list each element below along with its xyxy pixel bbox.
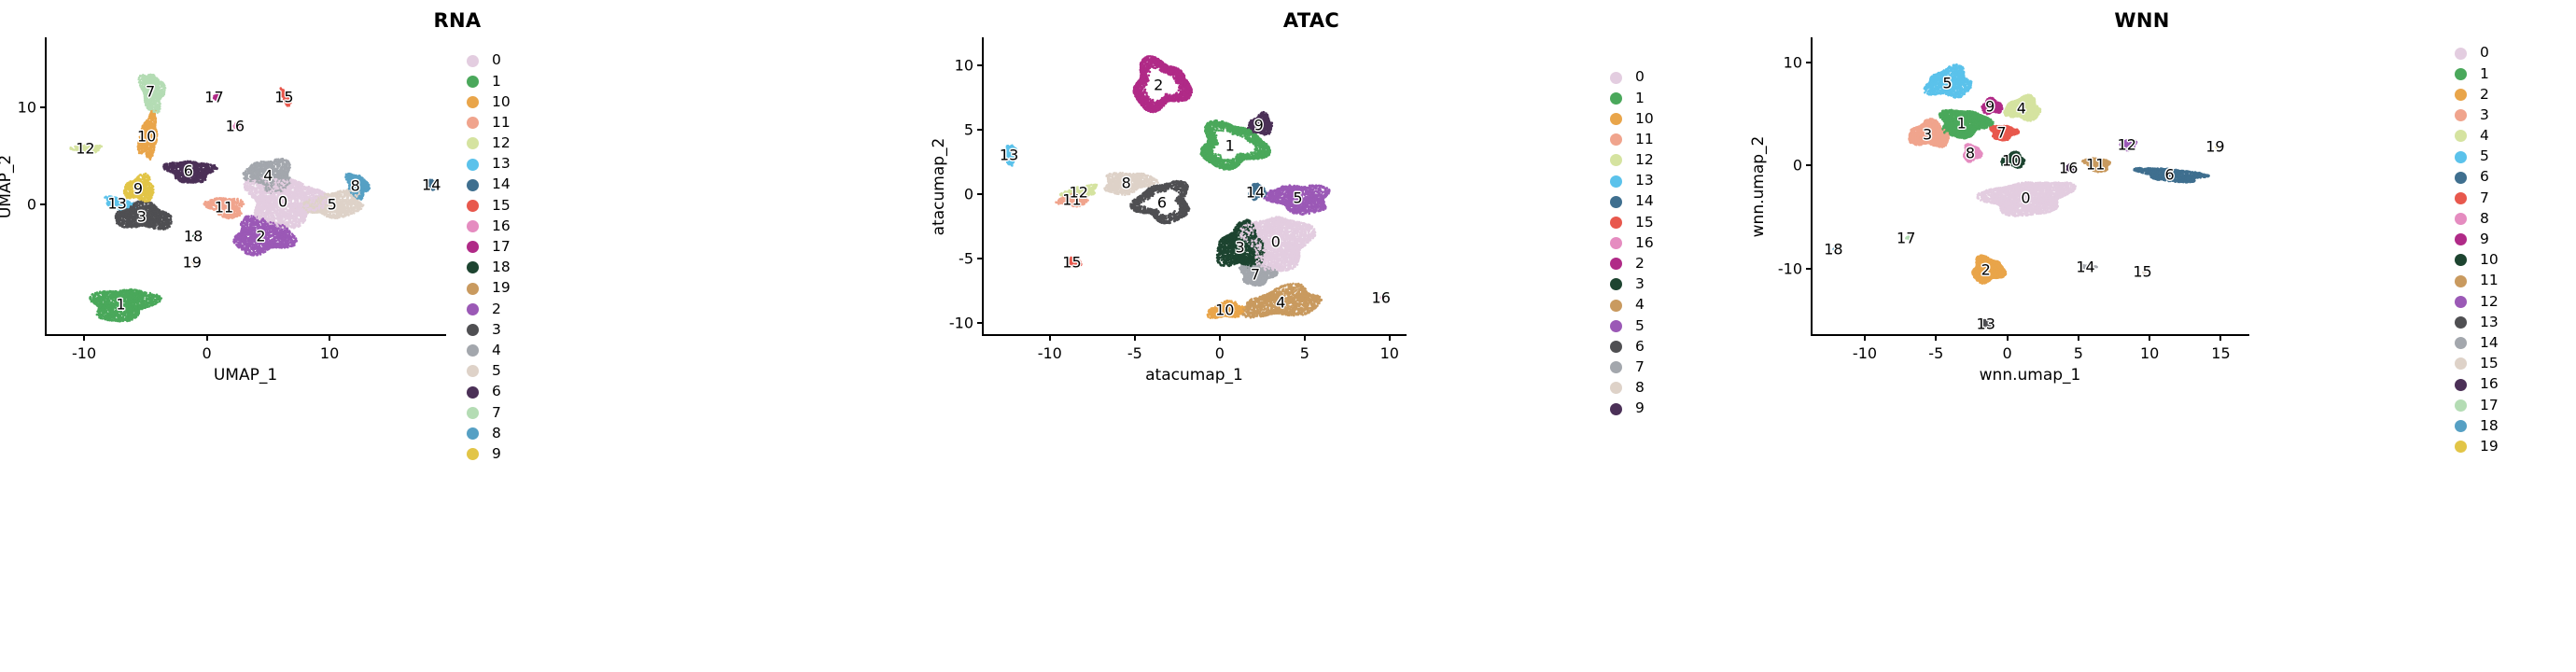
legend-swatch-icon <box>1610 403 1622 415</box>
legend-label: 19 <box>492 281 511 296</box>
legend-label: 13 <box>492 157 511 172</box>
legend-label: 9 <box>2480 232 2489 247</box>
legend-swatch-icon <box>2455 399 2467 412</box>
legend-label: 4 <box>1635 298 1645 313</box>
legend-item-8[interactable]: 8 <box>467 423 511 443</box>
legend-item-9[interactable]: 9 <box>1610 399 1654 419</box>
panel-title-rna: RNA <box>0 9 915 32</box>
legend-label: 13 <box>1635 174 1654 189</box>
legend-item-15[interactable]: 15 <box>1610 212 1654 232</box>
legend-item-1[interactable]: 1 <box>1610 88 1654 108</box>
legend-swatch-icon <box>2455 441 2467 453</box>
x-tick <box>2219 336 2221 341</box>
legend-item-9[interactable]: 9 <box>467 444 511 465</box>
x-tick <box>2007 336 2009 341</box>
legend-swatch-icon <box>1610 113 1622 125</box>
legend-item-3[interactable]: 3 <box>2455 105 2499 126</box>
legend-label: 2 <box>1635 257 1645 272</box>
legend-swatch-icon <box>1610 217 1622 229</box>
legend-item-7[interactable]: 7 <box>1610 357 1654 378</box>
legend-label: 2 <box>492 302 501 317</box>
x-tick <box>1389 336 1391 341</box>
legend-swatch-icon <box>2455 420 2467 432</box>
legend-label: 7 <box>2480 191 2489 206</box>
legend-label: 2 <box>2480 88 2489 103</box>
legend-label: 10 <box>1635 112 1654 127</box>
legend-swatch-icon <box>1610 300 1622 312</box>
legend-swatch-icon <box>2455 48 2467 60</box>
legend-label: 12 <box>1635 153 1654 168</box>
x-tick-label: -10 <box>1853 344 1877 362</box>
legend-swatch-icon <box>2455 130 2467 142</box>
legend-label: 3 <box>2480 108 2489 123</box>
legend-item-16[interactable]: 16 <box>1610 233 1654 254</box>
legend-swatch-icon <box>467 117 479 129</box>
legend-swatch-icon <box>2455 172 2467 184</box>
legend-label: 8 <box>492 427 501 441</box>
x-tick-label: 10 <box>2140 344 2159 362</box>
legend-rna: 011011121314151617181923456789 <box>467 50 511 465</box>
legend-item-5[interactable]: 5 <box>467 361 511 382</box>
legend-label: 18 <box>492 260 511 275</box>
legend-label: 7 <box>492 406 501 421</box>
legend-swatch-icon <box>467 159 479 171</box>
legend-swatch-icon <box>1610 133 1622 146</box>
legend-item-7[interactable]: 7 <box>467 402 511 423</box>
y-tick <box>1806 62 1811 63</box>
legend-label: 13 <box>2480 315 2499 330</box>
legend-swatch-icon <box>467 200 479 212</box>
x-tick-label: -10 <box>1038 344 1062 362</box>
y-tick-label: 10 <box>1763 53 1802 71</box>
legend-item-13[interactable]: 13 <box>467 154 511 175</box>
legend-item-18[interactable]: 18 <box>2455 415 2499 436</box>
x-tick-label: -5 <box>1127 344 1142 362</box>
legend-label: 15 <box>1635 216 1654 231</box>
legend-item-15[interactable]: 15 <box>2455 354 2499 374</box>
x-tick-label: 10 <box>1380 344 1399 362</box>
legend-swatch-icon <box>2455 379 2467 391</box>
legend-label: 6 <box>1635 340 1645 355</box>
legend-item-4[interactable]: 4 <box>467 341 511 361</box>
legend-label: 12 <box>492 136 511 151</box>
legend-item-0[interactable]: 0 <box>467 50 511 71</box>
x-tick-label: 0 <box>1215 344 1225 362</box>
legend-swatch-icon <box>2455 337 2467 349</box>
y-tick <box>977 64 982 66</box>
legend-item-5[interactable]: 5 <box>1610 315 1654 336</box>
legend-swatch-icon <box>1610 175 1622 188</box>
legend-label: 12 <box>2480 295 2499 310</box>
legend-label: 11 <box>2480 273 2499 288</box>
legend-item-12[interactable]: 12 <box>1610 150 1654 171</box>
legend-swatch-icon <box>467 386 479 399</box>
legend-swatch-icon <box>2455 213 2467 225</box>
x-tick-label: 5 <box>1300 344 1309 362</box>
legend-item-2[interactable]: 2 <box>467 299 511 319</box>
legend-swatch-icon <box>1610 196 1622 208</box>
legend-label: 10 <box>2480 253 2499 268</box>
legend-item-2[interactable]: 2 <box>1610 254 1654 274</box>
y-tick-label: -5 <box>934 250 973 268</box>
legend-label: 7 <box>1635 360 1645 375</box>
legend-swatch-icon <box>467 303 479 315</box>
legend-item-2[interactable]: 2 <box>2455 84 2499 105</box>
plot-area-atac <box>982 37 1407 336</box>
legend-item-10[interactable]: 10 <box>467 91 511 112</box>
legend-item-8[interactable]: 8 <box>2455 209 2499 230</box>
legend-label: 1 <box>1635 91 1645 106</box>
legend-wnn: 012345678910111213141516171819 <box>2455 43 2499 457</box>
legend-label: 14 <box>492 177 511 192</box>
legend-swatch-icon <box>1610 341 1622 353</box>
legend-label: 14 <box>2480 336 2499 351</box>
legend-swatch-icon <box>1610 154 1622 166</box>
legend-swatch-icon <box>467 220 479 232</box>
legend-label: 9 <box>1635 401 1645 416</box>
x-axis-label-rna: UMAP_1 <box>45 366 446 385</box>
legend-label: 11 <box>1635 133 1654 147</box>
panel-atac: ATAC -10-50510-10-50510atacumap_1atacuma… <box>915 0 1708 672</box>
y-tick-label: 10 <box>0 98 36 116</box>
legend-item-6[interactable]: 6 <box>1610 336 1654 357</box>
y-tick <box>977 258 982 259</box>
legend-label: 4 <box>2480 129 2489 144</box>
legend-label: 14 <box>1635 194 1654 209</box>
x-tick <box>1219 336 1221 341</box>
legend-item-12[interactable]: 12 <box>467 133 511 154</box>
legend-item-11[interactable]: 11 <box>467 113 511 133</box>
legend-label: 16 <box>492 219 511 234</box>
legend-item-14[interactable]: 14 <box>467 175 511 195</box>
legend-label: 18 <box>2480 419 2499 434</box>
legend-item-12[interactable]: 12 <box>2455 291 2499 312</box>
legend-label: 0 <box>492 53 501 68</box>
legend-swatch-icon <box>467 76 479 88</box>
legend-item-19[interactable]: 19 <box>2455 437 2499 457</box>
legend-swatch-icon <box>1610 237 1622 249</box>
legend-item-1[interactable]: 1 <box>2455 63 2499 84</box>
legend-label: 16 <box>2480 377 2499 392</box>
y-tick <box>977 193 982 195</box>
legend-swatch-icon <box>2455 192 2467 204</box>
legend-item-10[interactable]: 10 <box>2455 250 2499 271</box>
y-tick-label: 5 <box>934 121 973 139</box>
panel-title-wnn: WNN <box>1708 9 2576 32</box>
y-tick <box>1806 164 1811 166</box>
legend-swatch-icon <box>2455 254 2467 266</box>
legend-item-0[interactable]: 0 <box>1610 67 1654 88</box>
x-tick <box>1935 336 1937 341</box>
legend-label: 5 <box>492 364 501 379</box>
legend-swatch-icon <box>467 241 479 253</box>
legend-item-0[interactable]: 0 <box>2455 43 2499 63</box>
legend-item-14[interactable]: 14 <box>2455 333 2499 354</box>
legend-swatch-icon <box>2455 233 2467 245</box>
x-tick-label: 10 <box>320 344 339 362</box>
y-tick <box>40 106 45 108</box>
legend-label: 17 <box>2480 399 2499 413</box>
x-tick-label: 5 <box>2074 344 2083 362</box>
x-tick-label: 0 <box>202 344 211 362</box>
legend-item-4[interactable]: 4 <box>1610 295 1654 315</box>
y-tick-label: -10 <box>1763 260 1802 278</box>
y-axis-label-wnn: wnn.umap_2 <box>1749 136 1768 238</box>
legend-swatch-icon <box>467 55 479 67</box>
legend-swatch-icon <box>2455 151 2467 163</box>
legend-swatch-icon <box>1610 278 1622 290</box>
legend-label: 5 <box>2480 149 2489 164</box>
panel-title-atac: ATAC <box>915 9 1708 32</box>
scatter-canvas-rna <box>47 37 446 334</box>
legend-item-5[interactable]: 5 <box>2455 147 2499 167</box>
y-tick-label: 10 <box>934 57 973 75</box>
legend-label: 3 <box>1635 277 1645 292</box>
legend-swatch-icon <box>467 407 479 419</box>
legend-swatch-icon <box>2455 68 2467 80</box>
legend-label: 15 <box>2480 357 2499 371</box>
x-tick <box>83 336 85 341</box>
x-tick <box>1049 336 1051 341</box>
legend-label: 1 <box>492 75 501 90</box>
legend-swatch-icon <box>467 365 479 377</box>
legend-item-3[interactable]: 3 <box>1610 274 1654 295</box>
legend-label: 8 <box>2480 212 2489 227</box>
legend-label: 9 <box>492 447 501 462</box>
y-axis-label-atac: atacumap_2 <box>930 138 948 236</box>
plot-area-wnn <box>1811 37 2249 336</box>
legend-swatch-icon <box>1610 320 1622 332</box>
legend-item-9[interactable]: 9 <box>2455 230 2499 250</box>
legend-swatch-icon <box>1610 72 1622 84</box>
legend-item-11[interactable]: 11 <box>2455 271 2499 291</box>
legend-swatch-icon <box>467 427 479 440</box>
legend-item-16[interactable]: 16 <box>2455 374 2499 395</box>
x-tick-label: 0 <box>2002 344 2011 362</box>
legend-swatch-icon <box>467 137 479 149</box>
legend-item-16[interactable]: 16 <box>467 217 511 237</box>
legend-swatch-icon <box>2455 109 2467 121</box>
x-tick-label: -5 <box>1928 344 1943 362</box>
legend-label: 10 <box>492 95 511 110</box>
umap-figure: RNA -10010010UMAP_1UMAP_2012345678910111… <box>0 0 2576 672</box>
legend-label: 3 <box>492 323 501 338</box>
legend-item-17[interactable]: 17 <box>467 237 511 258</box>
legend-swatch-icon <box>2455 316 2467 329</box>
x-axis-label-wnn: wnn.umap_1 <box>1811 366 2249 385</box>
legend-swatch-icon <box>467 179 479 191</box>
y-tick-label: 0 <box>1763 157 1802 175</box>
legend-item-18[interactable]: 18 <box>467 258 511 278</box>
legend-atac: 011011121314151623456789 <box>1610 67 1654 419</box>
legend-label: 17 <box>492 240 511 255</box>
legend-swatch-icon <box>2455 89 2467 101</box>
legend-label: 0 <box>1635 70 1645 85</box>
legend-swatch-icon <box>467 324 479 336</box>
legend-swatch-icon <box>467 344 479 357</box>
legend-swatch-icon <box>467 283 479 295</box>
legend-item-14[interactable]: 14 <box>1610 191 1654 212</box>
legend-item-17[interactable]: 17 <box>2455 395 2499 415</box>
x-tick <box>329 336 330 341</box>
x-tick <box>1864 336 1866 341</box>
panel-wnn: WNN -10-5051015-10010wnn.umap_1wnn.umap_… <box>1708 0 2576 672</box>
scatter-canvas-atac <box>984 37 1407 334</box>
legend-label: 15 <box>492 199 511 214</box>
legend-swatch-icon <box>1610 382 1622 394</box>
legend-swatch-icon <box>2455 296 2467 308</box>
legend-label: 16 <box>1635 236 1654 251</box>
x-axis-label-atac: atacumap_1 <box>982 366 1407 385</box>
legend-swatch-icon <box>2455 357 2467 370</box>
legend-item-1[interactable]: 1 <box>467 71 511 91</box>
legend-swatch-icon <box>467 261 479 273</box>
scatter-canvas-wnn <box>1813 37 2249 334</box>
y-tick <box>977 129 982 131</box>
legend-swatch-icon <box>467 96 479 108</box>
legend-item-13[interactable]: 13 <box>2455 312 2499 332</box>
legend-item-4[interactable]: 4 <box>2455 126 2499 147</box>
legend-swatch-icon <box>1610 258 1622 270</box>
legend-item-6[interactable]: 6 <box>2455 167 2499 188</box>
legend-item-19[interactable]: 19 <box>467 278 511 299</box>
legend-item-11[interactable]: 11 <box>1610 130 1654 150</box>
legend-label: 8 <box>1635 381 1645 396</box>
legend-item-8[interactable]: 8 <box>1610 378 1654 399</box>
x-tick <box>2149 336 2150 341</box>
plot-area-rna <box>45 37 446 336</box>
legend-swatch-icon <box>467 448 479 460</box>
legend-item-3[interactable]: 3 <box>467 319 511 340</box>
legend-item-13[interactable]: 13 <box>1610 171 1654 191</box>
legend-swatch-icon <box>1610 92 1622 105</box>
legend-label: 1 <box>2480 67 2489 82</box>
y-tick <box>1806 268 1811 270</box>
legend-label: 0 <box>2480 46 2489 61</box>
x-tick <box>1134 336 1136 341</box>
x-tick-label: -10 <box>72 344 96 362</box>
x-tick-label: 15 <box>2211 344 2230 362</box>
panel-rna: RNA -10010010UMAP_1UMAP_2012345678910111… <box>0 0 915 672</box>
y-tick <box>40 203 45 205</box>
legend-label: 11 <box>492 116 511 131</box>
legend-label: 5 <box>1635 319 1645 334</box>
legend-item-7[interactable]: 7 <box>2455 188 2499 208</box>
legend-swatch-icon <box>1610 361 1622 373</box>
x-tick <box>2078 336 2079 341</box>
y-tick-label: -10 <box>934 315 973 332</box>
legend-label: 6 <box>492 385 501 399</box>
legend-item-10[interactable]: 10 <box>1610 108 1654 129</box>
legend-item-6[interactable]: 6 <box>467 382 511 402</box>
legend-label: 4 <box>492 343 501 358</box>
legend-label: 19 <box>2480 440 2499 455</box>
legend-label: 6 <box>2480 170 2489 185</box>
legend-swatch-icon <box>2455 275 2467 287</box>
y-axis-label-rna: UMAP_2 <box>0 155 15 218</box>
y-tick <box>977 322 982 324</box>
legend-item-15[interactable]: 15 <box>467 195 511 216</box>
x-tick <box>1304 336 1306 341</box>
x-tick <box>206 336 208 341</box>
